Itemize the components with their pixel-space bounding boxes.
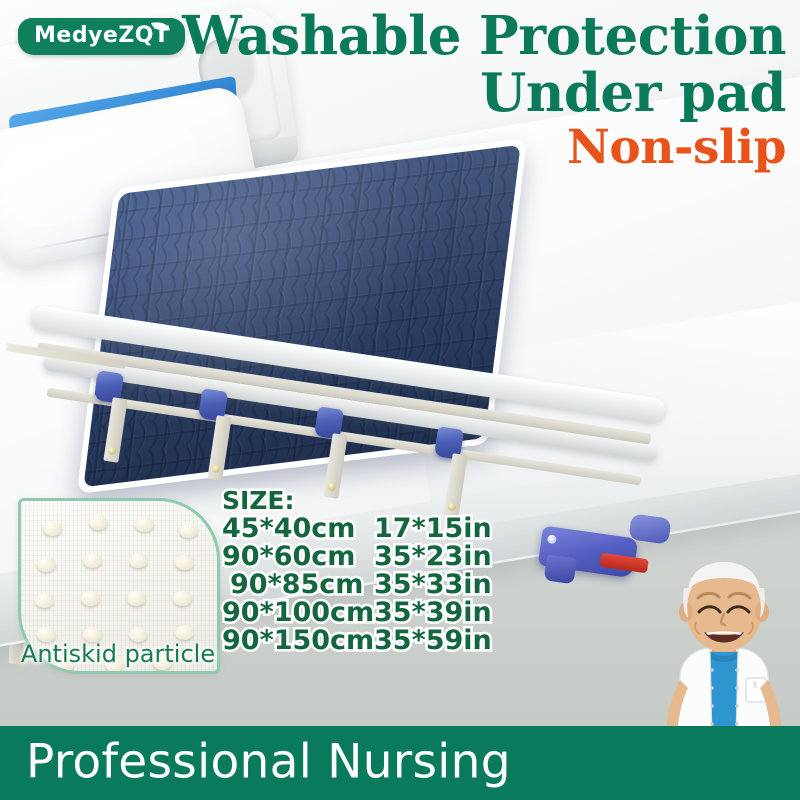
antiskid-label: Antiskid particle [20, 640, 216, 668]
brand-logo-text: MedyeZQT [34, 25, 169, 47]
headline-block: Washable Protection Under pad Non-slip [182, 10, 786, 171]
size-in: 35*59in [374, 627, 492, 655]
size-in: 35*39in [374, 599, 492, 627]
size-in: 35*33in [374, 571, 492, 599]
size-row: 90*100cm 35*39in [222, 599, 492, 627]
size-list-title: SIZE: [222, 488, 492, 514]
headline-line-1: Washable Protection [182, 10, 786, 63]
size-in: 17*15in [374, 515, 492, 543]
size-cm: 45*40cm [222, 515, 374, 543]
size-cm: 90*100cm [222, 599, 374, 627]
product-poster: MedyeZQT Washable Protection Under pad N… [0, 0, 800, 800]
size-row: 90*85cm 35*33in [222, 571, 492, 599]
headline-line-2: Under pad [182, 67, 786, 120]
size-cm: 90*60cm [222, 543, 374, 571]
bottom-banner: Professional Nursing [0, 726, 800, 800]
size-list: SIZE: 45*40cm 17*15in 90*60cm 35*23in 90… [222, 488, 492, 655]
size-row: 90*60cm 35*23in [222, 543, 492, 571]
size-in: 35*23in [374, 543, 492, 571]
size-cm: 90*150cm [222, 627, 374, 655]
size-row: 90*150cm 35*59in [222, 627, 492, 655]
brand-logo-badge: MedyeZQT [18, 18, 185, 55]
antiskid-inset: Antiskid particle [18, 498, 214, 668]
size-row: 45*40cm 17*15in [222, 515, 492, 543]
banner-title: Professional Nursing [26, 734, 511, 789]
headline-line-3: Non-slip [182, 124, 786, 171]
size-cm: 90*85cm [222, 571, 374, 599]
